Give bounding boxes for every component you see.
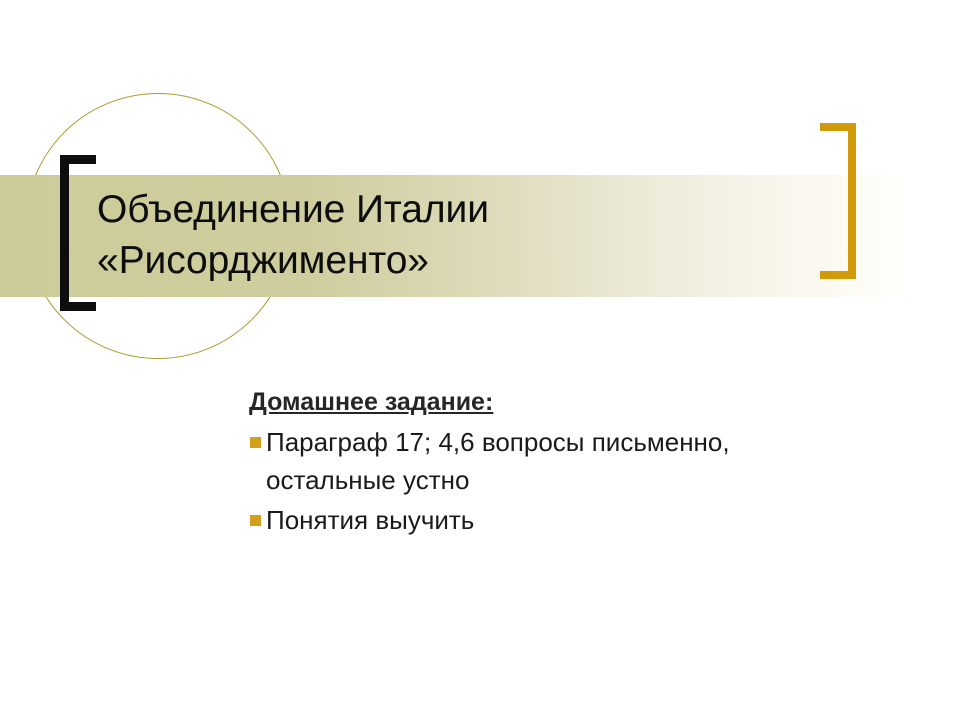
slide-title: Объединение Италии «Рисорджименто» bbox=[97, 184, 797, 286]
list-item: Параграф 17; 4,6 вопросы письменно, оста… bbox=[249, 423, 849, 499]
slide-canvas: Объединение Италии «Рисорджименто» Домаш… bbox=[0, 0, 960, 720]
homework-heading: Домашнее задание: bbox=[249, 386, 493, 418]
square-bullet-icon bbox=[250, 437, 261, 448]
homework-block: Домашнее задание: Параграф 17; 4,6 вопро… bbox=[249, 386, 849, 541]
square-bullet-icon bbox=[250, 515, 261, 526]
list-item-label: Понятия выучить bbox=[249, 501, 849, 539]
right-bracket-icon bbox=[820, 123, 856, 279]
list-item-label: Параграф 17; 4,6 вопросы письменно, оста… bbox=[249, 423, 849, 499]
homework-bullet-list: Параграф 17; 4,6 вопросы письменно, оста… bbox=[249, 423, 849, 539]
left-bracket-icon bbox=[60, 155, 96, 311]
list-item: Понятия выучить bbox=[249, 501, 849, 539]
